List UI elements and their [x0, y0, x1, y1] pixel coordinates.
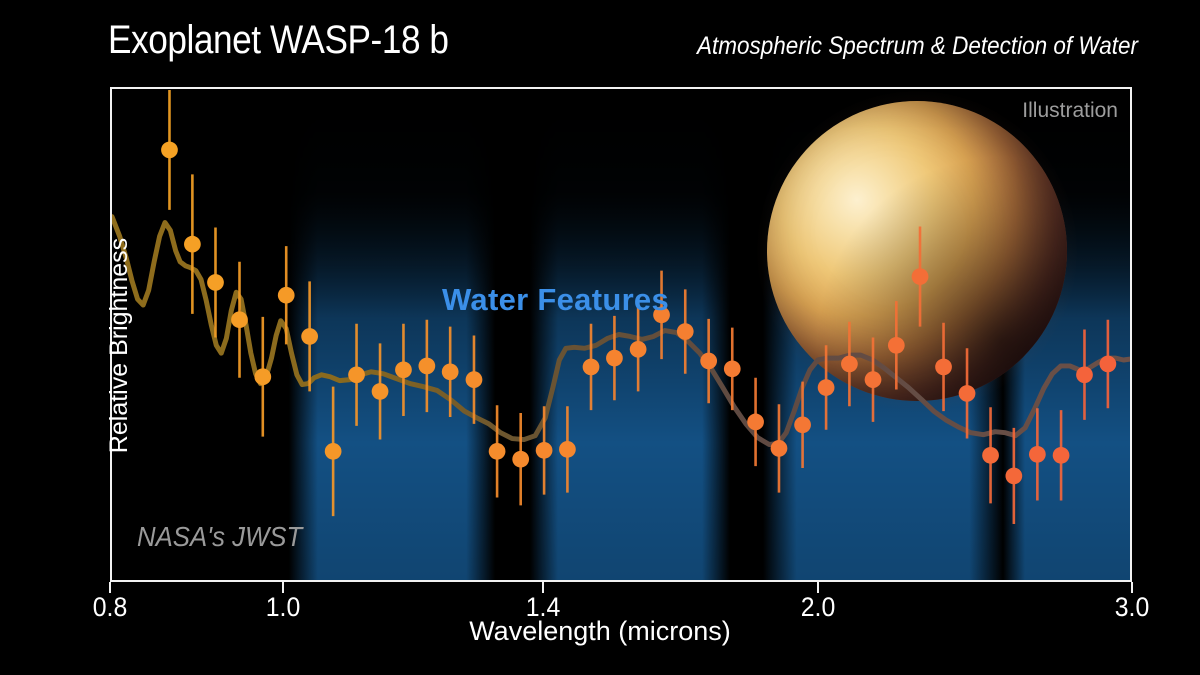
data-point — [747, 414, 764, 431]
data-point — [254, 368, 271, 385]
x-axis-tick-label: 3.0 — [1115, 592, 1150, 623]
data-point — [536, 442, 553, 459]
data-point — [207, 274, 224, 291]
data-point — [700, 353, 717, 370]
data-point — [818, 379, 835, 396]
y-axis-title: Relative Brightness — [105, 238, 134, 453]
figure-subtitle: Atmospheric Spectrum & Detection of Wate… — [697, 32, 1138, 61]
plot-area: Water Features NASA's JWST Illustration — [110, 87, 1132, 582]
data-point — [888, 337, 905, 354]
data-point — [395, 361, 412, 378]
data-point — [325, 443, 342, 460]
data-point — [1005, 468, 1022, 485]
data-point — [559, 441, 576, 458]
data-point — [161, 142, 178, 159]
data-point — [959, 385, 976, 402]
data-point — [184, 236, 201, 253]
illustration-label: Illustration — [1022, 99, 1118, 123]
x-axis-tick-label: 2.0 — [801, 592, 836, 623]
data-point — [466, 371, 483, 388]
data-point — [630, 341, 647, 358]
data-point — [935, 359, 952, 376]
data-point — [1076, 366, 1093, 383]
figure-root: Exoplanet WASP-18 b Atmospheric Spectrum… — [0, 0, 1200, 675]
model-curve — [112, 217, 1130, 445]
data-point — [418, 358, 435, 375]
data-point — [794, 417, 811, 434]
data-point — [606, 350, 623, 367]
credit-label: NASA's JWST — [137, 521, 302, 553]
data-point — [841, 356, 858, 373]
data-point — [1029, 446, 1046, 463]
data-point — [278, 287, 295, 304]
x-axis-tick-label: 1.0 — [265, 592, 300, 623]
x-axis-tick-label: 0.8 — [93, 592, 128, 623]
x-axis-tick-label: 1.4 — [525, 592, 560, 623]
data-point — [677, 323, 694, 340]
data-point — [865, 371, 882, 388]
data-point — [442, 363, 459, 380]
spectrum-data-layer — [112, 89, 1130, 580]
data-point — [982, 447, 999, 464]
data-point — [1053, 447, 1070, 464]
data-point — [301, 328, 318, 345]
water-features-label: Water Features — [442, 282, 669, 318]
data-point — [372, 383, 389, 400]
data-point — [912, 268, 929, 285]
data-point — [231, 311, 248, 328]
data-point — [583, 359, 600, 376]
data-point — [771, 440, 788, 457]
data-point — [512, 451, 529, 468]
figure-title: Exoplanet WASP-18 b — [108, 18, 449, 63]
data-point — [1100, 356, 1117, 373]
data-point — [489, 443, 506, 460]
data-point — [348, 366, 365, 383]
x-axis-title: Wavelength (microns) — [0, 616, 1200, 647]
data-point — [724, 360, 741, 377]
